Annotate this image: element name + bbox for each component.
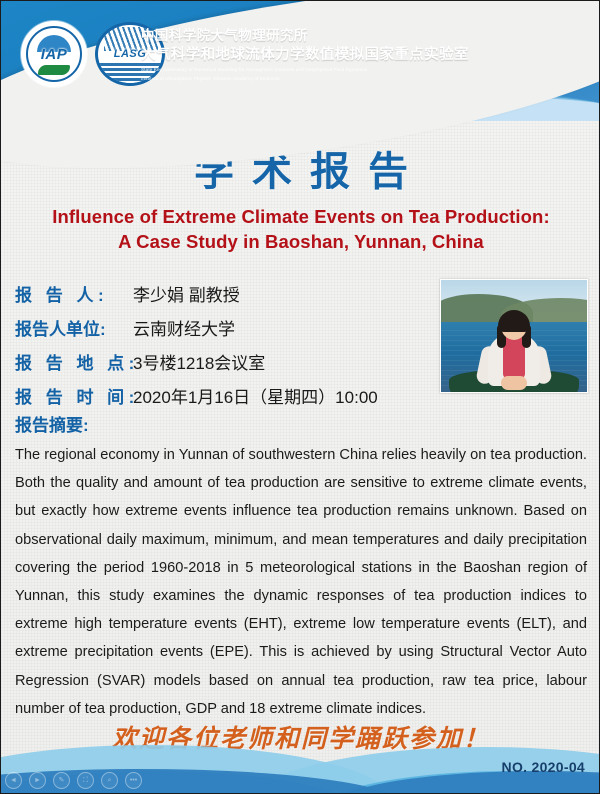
page-title-en: Influence of Extreme Climate Events on T…: [31, 204, 571, 254]
time-label: 报 告 时 间:: [15, 383, 133, 408]
institute-name-en: Institute of Atmospheric Physics, Chines…: [141, 76, 469, 83]
laboratory-name-cn: 大气科学和地球流体力学数值模拟国家重点实验室: [141, 45, 469, 65]
media-player-toolbar[interactable]: ◄ ► ✎ ⛶ ⌕ •••: [5, 772, 142, 789]
title-en-line2: A Case Study in Baoshan, Yunnan, China: [31, 229, 571, 254]
laboratory-name-en: State Key Laboratory of Numerical Modeli…: [141, 67, 469, 74]
pen-icon[interactable]: ✎: [53, 772, 70, 789]
venue-label: 报 告 地 点:: [15, 349, 133, 374]
info-row-venue: 报 告 地 点: 3号楼1218会议室: [15, 349, 435, 374]
info-row-affiliation: 报告人单位: 云南财经大学: [15, 315, 435, 340]
zoom-icon[interactable]: ⌕: [101, 772, 118, 789]
seminar-info: 报 告 人: 李少娟 副教授 报告人单位: 云南财经大学 报 告 地 点: 3号…: [15, 281, 435, 417]
expand-icon[interactable]: ⛶: [77, 772, 94, 789]
affiliation-label: 报告人单位:: [15, 315, 133, 340]
affiliation-value: 云南财经大学: [133, 315, 235, 340]
time-value: 2020年1月16日（星期四）10:00: [133, 383, 378, 408]
iap-logo-text: IAP: [41, 46, 68, 63]
speaker-label: 报 告 人:: [15, 281, 133, 306]
abstract-label: 报告摘要:: [15, 411, 89, 436]
speaker-photo: [440, 279, 588, 393]
organization-block: 中国科学院大气物理研究所 大气科学和地球流体力学数值模拟国家重点实验室 Stat…: [141, 27, 469, 82]
venue-value: 3号楼1218会议室: [133, 349, 265, 374]
info-row-time: 报 告 时 间: 2020年1月16日（星期四）10:00: [15, 383, 435, 408]
abstract-text: The regional economy in Yunnan of southw…: [15, 441, 587, 723]
issue-number: NO. 2020-04: [502, 759, 585, 775]
more-icon[interactable]: •••: [125, 772, 142, 789]
seminar-poster: IAP LASG 中国科学院大气物理研究所 大气科学和地球流体力学数值模拟国家重…: [0, 0, 600, 794]
previous-icon[interactable]: ◄: [5, 772, 22, 789]
speaker-value: 李少娟 副教授: [133, 281, 240, 306]
title-en-line1: Influence of Extreme Climate Events on T…: [31, 204, 571, 229]
info-row-speaker: 报 告 人: 李少娟 副教授: [15, 281, 435, 306]
iap-logo-icon: IAP: [21, 21, 87, 87]
institute-name-cn: 中国科学院大气物理研究所: [141, 27, 469, 45]
play-icon[interactable]: ►: [29, 772, 46, 789]
